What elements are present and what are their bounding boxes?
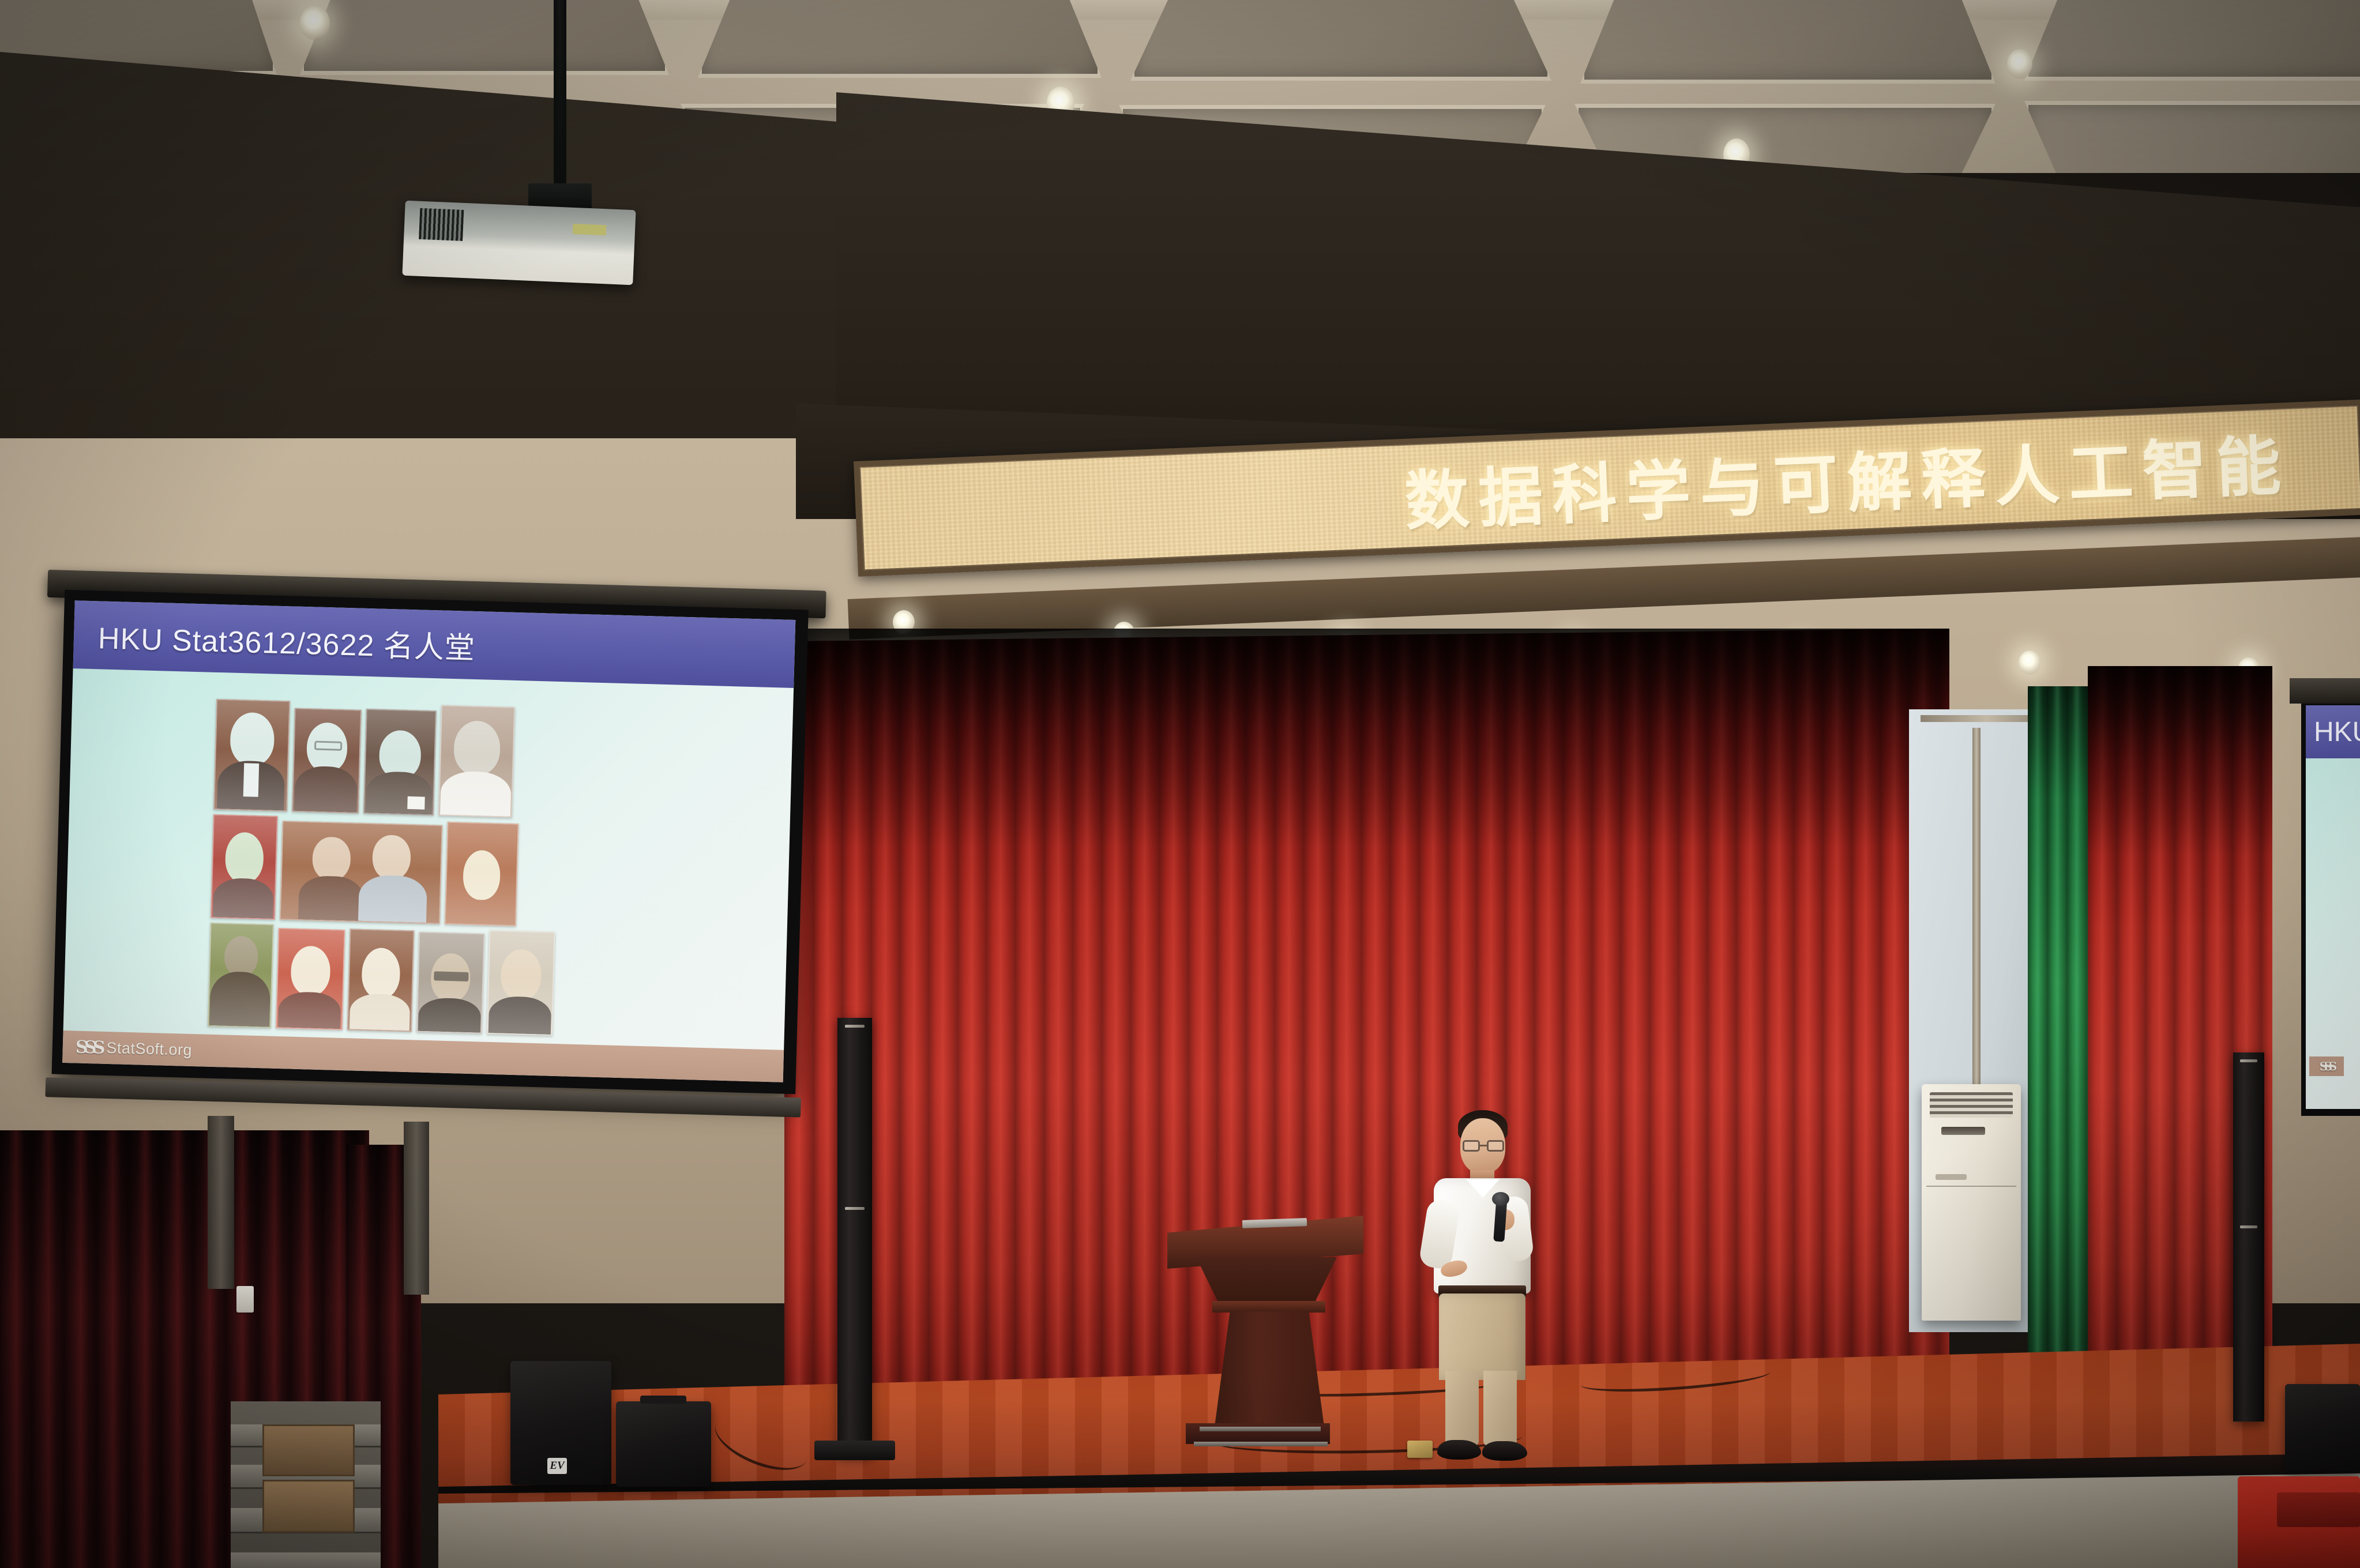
presenter-shoe-left xyxy=(1437,1440,1481,1460)
podium-column xyxy=(1215,1311,1324,1427)
photo-portrait-duo xyxy=(280,821,443,924)
pa-speaker-far-right xyxy=(2285,1384,2360,1471)
ceiling-panel xyxy=(1130,0,1551,81)
projector-assembly xyxy=(404,173,646,306)
photo-portrait xyxy=(276,928,345,1030)
air-conditioner-vent-slot xyxy=(1941,1127,1985,1135)
air-conditioner-grille xyxy=(1930,1092,2013,1118)
presenter-shoe-right xyxy=(1482,1441,1527,1461)
stage-curtain-side-green xyxy=(2028,686,2096,1390)
ceiling-panel xyxy=(2024,101,2360,173)
presenter-leg-left xyxy=(1445,1371,1479,1446)
air-conditioner-handle[interactable] xyxy=(1936,1174,1967,1180)
statsoft-logo-text: StatSoft.org xyxy=(106,1039,192,1059)
statsoft-logo: SSS StatSoft.org xyxy=(62,1036,192,1060)
air-conditioner-panel-line xyxy=(1926,1186,2016,1187)
presenter xyxy=(1413,1110,1551,1468)
photo-portrait xyxy=(445,822,519,926)
projector xyxy=(402,201,636,285)
microphone-head xyxy=(1492,1192,1509,1206)
photo-row xyxy=(213,699,655,821)
photo-row xyxy=(208,923,649,1038)
podium-shelf xyxy=(1212,1301,1325,1313)
statsoft-logo-mark: SSS xyxy=(75,1037,102,1058)
right-screen-title-text: HKU S xyxy=(2306,716,2360,748)
podium xyxy=(1148,1188,1378,1465)
right-statsoft-logo-mark: SSS xyxy=(2320,1059,2333,1073)
ceiling-pipe xyxy=(1972,728,1981,1091)
pa-speaker-secondary xyxy=(616,1401,711,1487)
stage-downlight xyxy=(893,610,915,634)
photo-portrait xyxy=(292,708,362,814)
screen-support-post xyxy=(404,1122,429,1295)
photo-portrait xyxy=(487,930,555,1036)
right-screen-statsoft-logo: SSS xyxy=(2309,1056,2344,1076)
ceiling-panel xyxy=(1580,0,1996,84)
ceiling-panel xyxy=(698,0,1102,78)
photo-row xyxy=(211,814,652,930)
podium-neck xyxy=(1196,1257,1337,1303)
right-screen-roller-casing xyxy=(2290,678,2360,704)
pa-speaker-main: EV xyxy=(510,1361,611,1485)
stair-step xyxy=(231,1552,381,1568)
ev-brand-badge: EV xyxy=(547,1458,567,1474)
slide-title-text: HKU Stat3612/3622 名人堂 xyxy=(73,613,476,667)
projector-pole xyxy=(554,0,566,190)
column-array-speaker xyxy=(837,1018,872,1456)
ceiling-panel xyxy=(2024,0,2360,81)
projection-screen-unit: HKU Stat3612/3622 名人堂 xyxy=(51,590,809,1123)
projector-vent xyxy=(419,208,464,241)
podium-base-trim xyxy=(1194,1442,1328,1446)
ceiling-downlight xyxy=(2007,49,2032,79)
ceiling-panel xyxy=(300,0,669,75)
photo-portrait xyxy=(347,928,415,1032)
projection-screen-right: HKU S xyxy=(2301,701,2360,1116)
presenter-glasses xyxy=(1463,1140,1504,1153)
podium-base-trim xyxy=(1200,1427,1321,1431)
column-array-speaker-right xyxy=(2233,1052,2264,1422)
projected-slide: HKU Stat3612/3622 名人堂 xyxy=(62,600,795,1082)
stage-downlight xyxy=(2019,650,2040,675)
photo-portrait xyxy=(363,709,437,815)
photo-portrait xyxy=(208,923,274,1028)
light-switch[interactable] xyxy=(236,1286,254,1313)
lecture-hall-scene: 数据科学与可解释人工智能 HKU Stat3612/3622 名人堂 xyxy=(0,0,2360,1568)
photo-portrait xyxy=(213,699,290,811)
audience-seat-back xyxy=(2277,1492,2360,1527)
storage-crate xyxy=(262,1480,355,1533)
photo-portrait xyxy=(211,814,278,920)
air-conditioner xyxy=(1922,1084,2021,1321)
column-speaker-base xyxy=(814,1441,895,1460)
slide-photo-grid xyxy=(208,699,655,1036)
presenter-leg-right xyxy=(1483,1371,1517,1446)
photo-portrait xyxy=(416,932,485,1034)
ceiling-downlight xyxy=(300,6,330,40)
storage-crate xyxy=(262,1424,355,1476)
photo-portrait xyxy=(438,705,515,817)
presenter-pants xyxy=(1439,1293,1525,1380)
screen-support-post xyxy=(208,1116,234,1289)
